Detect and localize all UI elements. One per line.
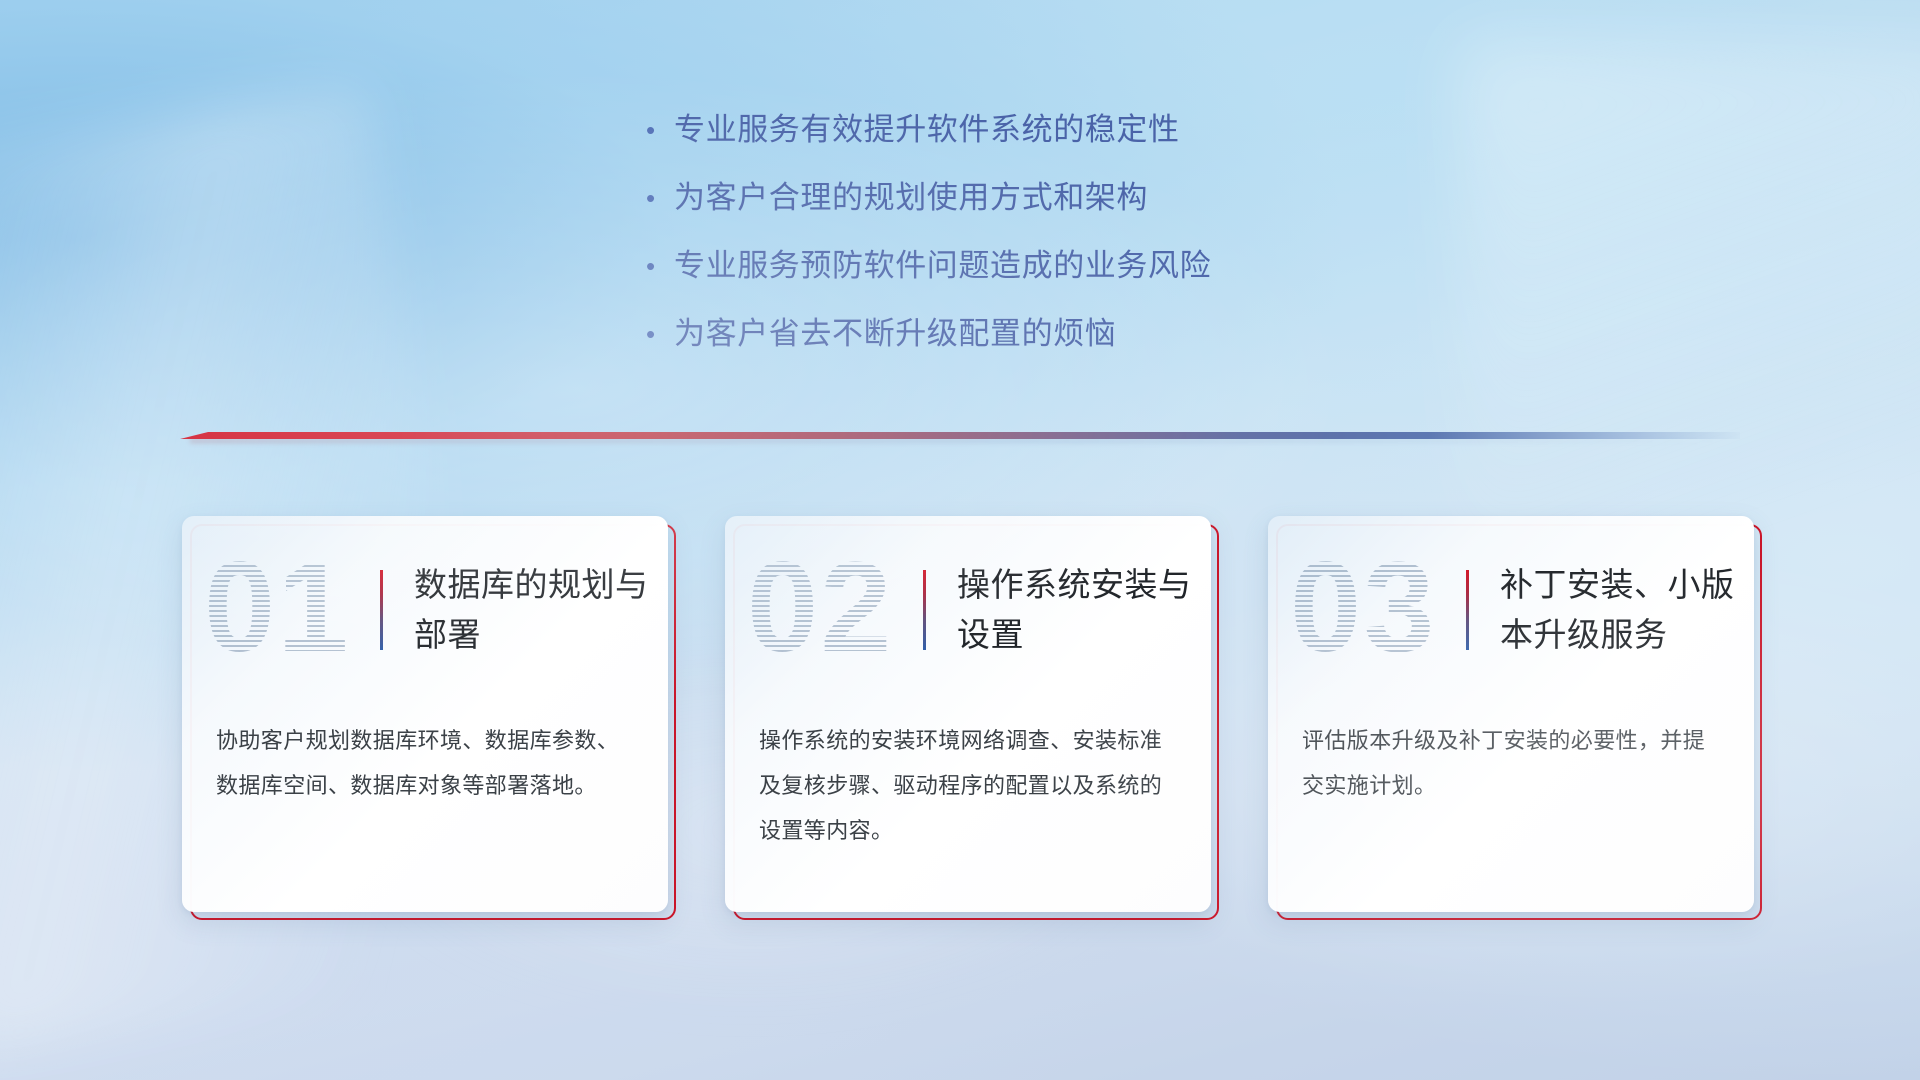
list-item: • 专业服务预防软件问题造成的业务风险 bbox=[640, 244, 1540, 288]
card-number-watermark: 01 bbox=[204, 544, 350, 672]
list-item: • 为客户省去不断升级配置的烦恼 bbox=[640, 312, 1540, 356]
card-number-watermark: 02 bbox=[747, 544, 893, 672]
service-card-03[interactable]: 03 补丁安装、小版本升级服务 评估版本升级及补丁安装的必要性，并提交实施计划。 bbox=[1268, 516, 1754, 912]
bullet-point-icon: • bbox=[640, 176, 674, 220]
service-card-group: 01 数据库的规划与部署 协助客户规划数据库环境、数据库参数、数据库空间、数据库… bbox=[182, 516, 1754, 912]
bullet-point-icon: • bbox=[640, 312, 674, 356]
card-surface: 01 数据库的规划与部署 协助客户规划数据库环境、数据库参数、数据库空间、数据库… bbox=[182, 516, 668, 912]
card-header: 03 补丁安装、小版本升级服务 bbox=[1268, 516, 1754, 708]
card-body-text: 评估版本升级及补丁安装的必要性，并提交实施计划。 bbox=[1302, 718, 1722, 808]
card-title-rule bbox=[380, 570, 383, 650]
card-title: 数据库的规划与部署 bbox=[414, 560, 654, 660]
card-title: 补丁安装、小版本升级服务 bbox=[1500, 560, 1740, 660]
card-body-text: 协助客户规划数据库环境、数据库参数、数据库空间、数据库对象等部署落地。 bbox=[216, 718, 636, 808]
card-number-watermark: 03 bbox=[1290, 544, 1436, 672]
card-header: 01 数据库的规划与部署 bbox=[182, 516, 668, 708]
section-divider bbox=[180, 424, 1740, 446]
benefits-bullet-list: • 专业服务有效提升软件系统的稳定性 • 为客户合理的规划使用方式和架构 • 专… bbox=[640, 108, 1540, 380]
bullet-point-icon: • bbox=[640, 244, 674, 288]
service-card-01[interactable]: 01 数据库的规划与部署 协助客户规划数据库环境、数据库参数、数据库空间、数据库… bbox=[182, 516, 668, 912]
card-surface: 02 操作系统安装与设置 操作系统的安装环境网络调查、安装标准及复核步骤、驱动程… bbox=[725, 516, 1211, 912]
list-item: • 为客户合理的规划使用方式和架构 bbox=[640, 176, 1540, 220]
bullet-text: 为客户合理的规划使用方式和架构 bbox=[674, 176, 1148, 220]
card-title-rule bbox=[1466, 570, 1469, 650]
divider-bar bbox=[180, 432, 1740, 439]
service-card-02[interactable]: 02 操作系统安装与设置 操作系统的安装环境网络调查、安装标准及复核步骤、驱动程… bbox=[725, 516, 1211, 912]
slide-canvas: • 专业服务有效提升软件系统的稳定性 • 为客户合理的规划使用方式和架构 • 专… bbox=[0, 0, 1920, 1080]
bullet-text: 专业服务有效提升软件系统的稳定性 bbox=[674, 108, 1180, 152]
card-title-rule bbox=[923, 570, 926, 650]
card-title: 操作系统安装与设置 bbox=[957, 560, 1197, 660]
bullet-point-icon: • bbox=[640, 108, 674, 152]
bullet-text: 为客户省去不断升级配置的烦恼 bbox=[674, 312, 1116, 356]
divider-shadow bbox=[190, 439, 1720, 443]
card-header: 02 操作系统安装与设置 bbox=[725, 516, 1211, 708]
list-item: • 专业服务有效提升软件系统的稳定性 bbox=[640, 108, 1540, 152]
bullet-text: 专业服务预防软件问题造成的业务风险 bbox=[674, 244, 1211, 288]
card-body-text: 操作系统的安装环境网络调查、安装标准及复核步骤、驱动程序的配置以及系统的设置等内… bbox=[759, 718, 1179, 853]
card-surface: 03 补丁安装、小版本升级服务 评估版本升级及补丁安装的必要性，并提交实施计划。 bbox=[1268, 516, 1754, 912]
